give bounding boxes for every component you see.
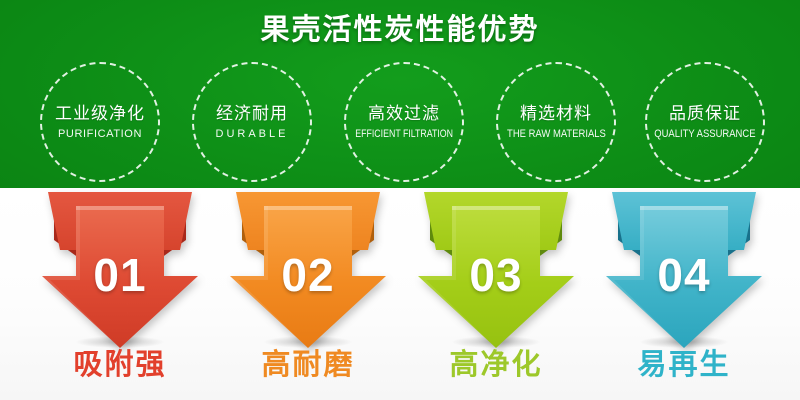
arrow-shape-icon [396, 188, 596, 358]
arrow-item-02: 02 高耐磨 [208, 188, 408, 400]
arrow-label: 易再生 [584, 345, 784, 385]
feature-circle-purification: 工业级净化 PURIFICATION [40, 62, 160, 182]
arrow-label: 高净化 [396, 345, 596, 385]
feature-label-cn: 高效过滤 [368, 103, 440, 125]
feature-label-en: DURABLE [216, 127, 289, 142]
feature-label-en: EFFICIENT FILTRATION [355, 127, 453, 142]
arrow-item-04: 04 易再生 [584, 188, 784, 400]
feature-label-en: THE RAW MATERIALS [507, 127, 606, 142]
feature-label-cn: 经济耐用 [216, 103, 288, 125]
feature-label-en: PURIFICATION [58, 127, 142, 142]
arrow-shape-icon [208, 188, 408, 358]
arrow-shape-icon [584, 188, 784, 358]
feature-circle-efficient-filtration: 高效过滤 EFFICIENT FILTRATION [344, 62, 464, 182]
feature-label-cn: 精选材料 [520, 103, 592, 125]
feature-label-cn: 工业级净化 [55, 103, 145, 125]
header-panel: 果壳活性炭性能优势 工业级净化 PURIFICATION 经济耐用 DURABL… [0, 0, 800, 188]
feature-label-cn: 品质保证 [669, 103, 741, 125]
feature-circle-durable: 经济耐用 DURABLE [192, 62, 312, 182]
arrow-shape-icon [20, 188, 220, 358]
arrow-item-03: 03 高净化 [396, 188, 596, 400]
feature-circle-list: 工业级净化 PURIFICATION 经济耐用 DURABLE 高效过滤 EFF… [0, 62, 800, 184]
arrow-item-01: 01 吸附强 [20, 188, 220, 400]
feature-label-en: QUALITY ASSURANCE [654, 127, 755, 142]
page-title: 果壳活性炭性能优势 [0, 10, 800, 50]
arrow-label: 吸附强 [20, 345, 220, 385]
infographic-banner: 果壳活性炭性能优势 工业级净化 PURIFICATION 经济耐用 DURABL… [0, 0, 800, 400]
feature-circle-raw-materials: 精选材料 THE RAW MATERIALS [496, 62, 616, 182]
feature-circle-quality-assurance: 品质保证 QUALITY ASSURANCE [645, 62, 765, 182]
arrow-label: 高耐磨 [208, 345, 408, 385]
